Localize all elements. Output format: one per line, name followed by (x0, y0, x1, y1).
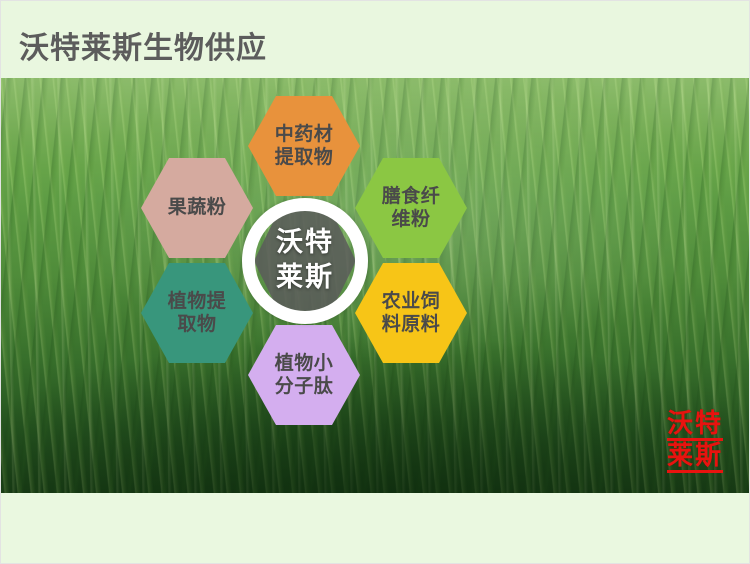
hex-label-feed-line2: 料原料 (382, 313, 441, 335)
hex-node-plant-extract[interactable]: 植物提 取物 (141, 263, 253, 363)
hex-label-plant-line2: 取物 (177, 313, 216, 335)
brand-logo: 沃特 莱斯 (667, 411, 723, 475)
hex-label-tcm-line1: 中药材 (275, 123, 334, 145)
center-brand-text: 沃特 莱斯 (242, 198, 368, 324)
hex-label-peptide-line1: 植物小 (275, 352, 334, 374)
footer-bar (1, 493, 750, 564)
hex-node-feed[interactable]: 农业饲 料原料 (355, 263, 467, 363)
center-brand-line2: 莱斯 (276, 262, 334, 293)
hex-label-tcm: 中药材 提取物 (275, 123, 334, 169)
hex-label-fiber-line1: 膳食纤 (382, 185, 441, 207)
hex-node-tcm[interactable]: 中药材 提取物 (248, 96, 360, 196)
background-photo: 中药材 提取物 膳食纤 维粉 农业饲 料原料 植物小 分子肽 (1, 78, 750, 493)
brand-logo-line2: 莱斯 (667, 443, 723, 473)
hex-label-tcm-line2: 提取物 (275, 146, 334, 168)
hex-label-peptide: 植物小 分子肽 (275, 352, 334, 398)
hex-node-fruit-veg-powder[interactable]: 果蔬粉 (141, 158, 253, 258)
hex-label-plant-extract: 植物提 取物 (168, 290, 227, 336)
hex-label-plant-line1: 植物提 (168, 290, 227, 312)
hex-label-fiber: 膳食纤 维粉 (382, 185, 441, 231)
hex-node-fiber[interactable]: 膳食纤 维粉 (355, 158, 467, 258)
hex-node-peptide[interactable]: 植物小 分子肽 (248, 325, 360, 425)
slide-canvas: 沃特莱斯生物供应 中药材 提取物 膳食纤 维粉 (0, 0, 750, 564)
brand-logo-line1: 沃特 (667, 411, 723, 441)
hex-label-fruit-veg-powder: 果蔬粉 (168, 196, 227, 219)
hex-label-feed-line1: 农业饲 (382, 290, 441, 312)
hex-label-peptide-line2: 分子肽 (275, 375, 334, 397)
hex-label-fruit-line1: 果蔬粉 (168, 196, 227, 218)
page-title: 沃特莱斯生物供应 (19, 23, 267, 67)
hex-label-fiber-line2: 维粉 (391, 208, 430, 230)
hex-label-feed: 农业饲 料原料 (382, 290, 441, 336)
hexagon-diagram: 中药材 提取物 膳食纤 维粉 农业饲 料原料 植物小 分子肽 (1, 78, 750, 493)
center-brand-line1: 沃特 (276, 227, 334, 258)
header-bar: 沃特莱斯生物供应 (1, 1, 750, 78)
